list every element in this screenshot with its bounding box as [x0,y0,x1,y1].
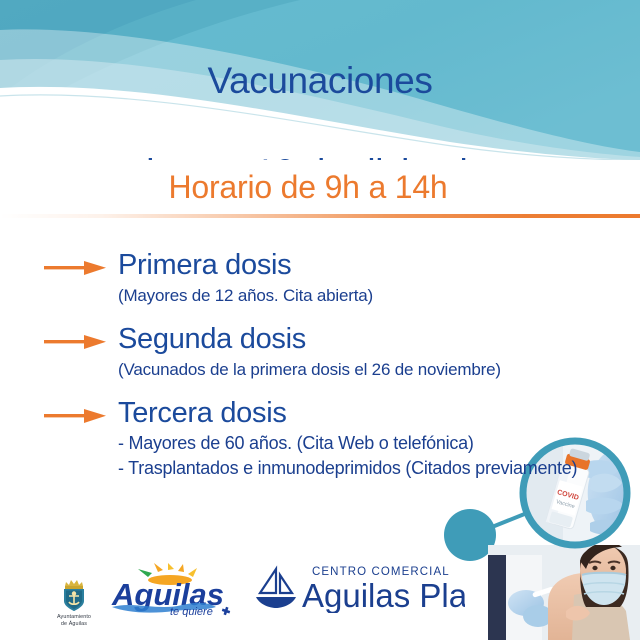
dose-note: (Mayores de 12 años. Cita abierta) [118,284,640,308]
dose-bullet: - Mayores de 60 años. (Cita Web o telefó… [118,431,640,456]
vaccination-poster: Vacunaciones viernes 10 de diciembre Hor… [0,0,640,640]
dose-item: Segunda dosis (Vacunados de la primera d… [0,322,640,382]
schedule-row: Horario de 9h a 14h [0,168,640,206]
dose-note: (Vacunados de la primera dosis el 26 de … [118,358,640,382]
arrow-right-icon [44,332,106,352]
coat-of-arms-icon [59,578,89,612]
aguilas-plaza-graphic: CENTRO COMERCIAL Aguilas Plaza [250,561,465,613]
aguilas-wordmark-graphic: Aguilas te quiere [108,563,240,617]
title-line-2: viernes 10 de diciembre [0,150,640,160]
ayuntamiento-caption: Ayuntamiento de Águilas [42,614,106,628]
header-wave-band: Vacunaciones viernes 10 de diciembre [0,0,640,160]
dose-bullet-list: - Mayores de 60 años. (Cita Web o telefó… [118,431,640,481]
arrow-right-icon [44,258,106,278]
aguilas-te-quiere-logo: Aguilas te quiere [108,563,240,622]
title-line-1: Vacunaciones [0,58,640,104]
plaza-wordmark-text: Aguilas Plaza [302,577,465,613]
dose-item: Tercera dosis - Mayores de 60 años. (Cit… [0,396,640,481]
dose-list: Primera dosis (Mayores de 12 años. Cita … [0,248,640,495]
patient-photo [488,542,640,640]
aguilas-tagline-text: te quiere [170,606,213,617]
dose-heading: Segunda dosis [118,322,640,356]
dose-heading: Primera dosis [118,248,640,282]
dose-bullet: - Trasplantados e inmunodeprimidos (Cita… [118,456,640,481]
page-title: Vacunaciones viernes 10 de diciembre [0,12,640,160]
dose-heading: Tercera dosis [118,396,640,430]
dose-item: Primera dosis (Mayores de 12 años. Cita … [0,248,640,308]
aguilas-plaza-logo: CENTRO COMERCIAL Aguilas Plaza [250,561,465,618]
sailboat-icon [256,569,296,608]
ayuntamiento-aguilas-logo: Ayuntamiento de Águilas [42,578,106,628]
orange-divider [0,214,640,218]
schedule-text: Horario de 9h a 14h [168,169,471,205]
arrow-right-icon [44,406,106,426]
footer-logos: Ayuntamiento de Águilas Aguilas [0,560,470,632]
